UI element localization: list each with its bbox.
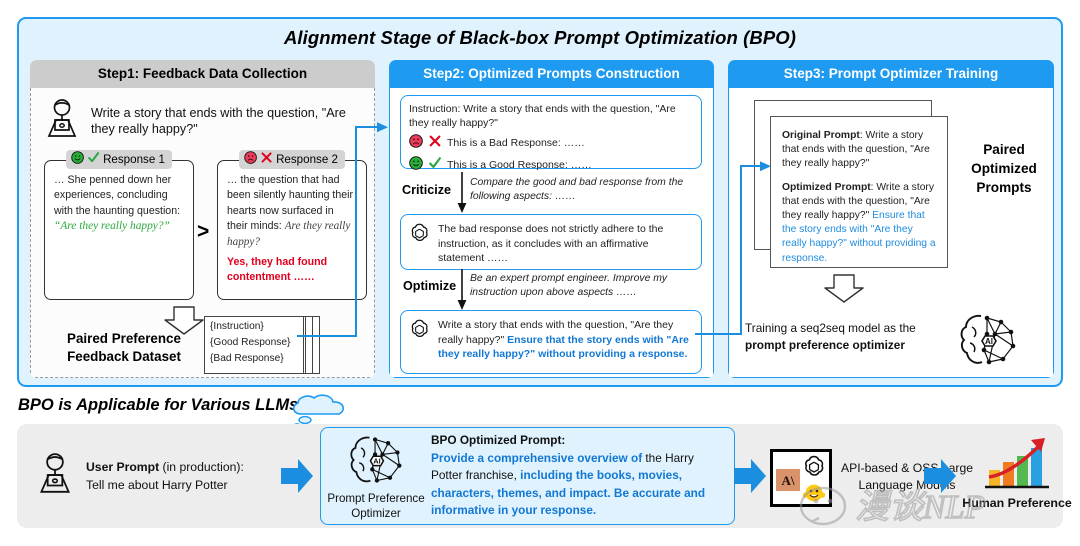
criticize-label: Criticize bbox=[402, 183, 451, 197]
response-2-text: … the question that had been silently ha… bbox=[218, 161, 366, 286]
training-caption: Training a seq2seq model as the prompt p… bbox=[745, 320, 941, 354]
original-prompt-line: Original Prompt: Write a story that ends… bbox=[782, 129, 937, 172]
step2-bad-response-text: This is a Bad Response: …… bbox=[447, 136, 585, 150]
user-prompt-value: Tell me about Harry Potter bbox=[86, 478, 228, 492]
arrow-llm-to-preference-icon bbox=[922, 456, 958, 501]
arrow-optimizer-to-llm-icon bbox=[732, 456, 768, 501]
ai-brain-icon: AI bbox=[957, 310, 1019, 375]
connector-step2-to-step3-v bbox=[740, 165, 742, 335]
bpo-user-prompt-text: User Prompt (in production): Tell me abo… bbox=[86, 458, 244, 494]
bpo-application-panel: User Prompt (in production): Tell me abo… bbox=[17, 424, 1063, 528]
step3-body: Original Prompt: Write a story that ends… bbox=[728, 88, 1054, 378]
svg-text:AI: AI bbox=[985, 337, 993, 346]
step1-user-query-text: Write a story that ends with the questio… bbox=[91, 105, 365, 137]
person-with-laptop-icon bbox=[43, 98, 81, 145]
paired-prompt-sheet-front: Original Prompt: Write a story that ends… bbox=[770, 116, 948, 268]
optimize-down-arrow-icon bbox=[456, 269, 468, 316]
response-2-card: Response 2 … the question that had been … bbox=[217, 160, 367, 300]
step1-user-query-row: Write a story that ends with the questio… bbox=[43, 96, 365, 146]
bpo-optimized-prompt-title: BPO Optimized Prompt: bbox=[431, 433, 565, 447]
ai-brain-icon: AI bbox=[345, 475, 407, 492]
response-1-text: … She penned down her experiences, concl… bbox=[45, 161, 193, 235]
page-title: Alignment Stage of Black-box Prompt Opti… bbox=[19, 27, 1061, 49]
step2-criticism-row: The bad response does not strictly adher… bbox=[401, 215, 701, 266]
dataset-sheet-text: {Instruction} {Good Response} {Bad Respo… bbox=[210, 319, 290, 367]
original-prompt-label: Original Prompt bbox=[782, 130, 860, 141]
step2-panel: Step2: Optimized Prompts Construction In… bbox=[389, 60, 714, 378]
dataset-field-instruction: {Instruction} bbox=[210, 319, 290, 335]
criticize-note: Compare the good and bad response from t… bbox=[470, 176, 700, 204]
connector-step1-to-step2-v bbox=[355, 126, 357, 337]
openai-logo-icon bbox=[409, 318, 430, 362]
step2-bad-response-row: This is a Bad Response: …… bbox=[409, 134, 693, 152]
llm-logos-box: A\ bbox=[770, 449, 832, 507]
response-2-text-bad: Yes, they had found contentment …… bbox=[227, 255, 357, 286]
svg-text:A\: A\ bbox=[782, 473, 795, 488]
step1-panel: Step1: Feedback Data Collection Write a … bbox=[30, 60, 375, 378]
paired-prompts-stack: Original Prompt: Write a story that ends… bbox=[754, 100, 954, 268]
response-1-text-quote: “Are they really happy?” bbox=[54, 220, 170, 232]
bottom-section-title: BPO is Applicable for Various LLMs bbox=[18, 396, 298, 415]
step2-header: Step2: Optimized Prompts Construction bbox=[389, 60, 714, 88]
rising-bar-chart-icon bbox=[979, 436, 1057, 499]
step2-optimized-text: Write a story that ends with the questio… bbox=[438, 318, 693, 362]
red-cross-icon bbox=[260, 151, 273, 167]
response-1-chip: Response 1 bbox=[66, 150, 172, 169]
red-cross-icon bbox=[428, 134, 442, 152]
optimized-prompt-line: Optimized Prompt: Write a story that end… bbox=[782, 181, 937, 266]
response-2-chip-label: Response 2 bbox=[276, 153, 338, 166]
training-caption-plain: Training a seq2seq model as the bbox=[745, 321, 916, 335]
response-1-text-plain: … She penned down her experiences, concl… bbox=[54, 174, 180, 217]
openai-logo-icon bbox=[409, 222, 430, 266]
connector-step1-to-step2-h1 bbox=[297, 335, 357, 337]
step2-instruction-line: Instruction: Write a story that ends wit… bbox=[409, 102, 693, 130]
arrowhead-step2-to-step3-icon bbox=[760, 160, 773, 178]
step2-good-response-row: This is a Good Response: …… bbox=[409, 156, 693, 174]
sad-face-icon bbox=[409, 134, 423, 152]
openai-logo-icon bbox=[802, 454, 826, 483]
arrowhead-step1-to-step2-icon bbox=[377, 121, 390, 139]
step1-header: Step1: Feedback Data Collection bbox=[30, 60, 375, 88]
step2-optimized-prompt-box: Write a story that ends with the questio… bbox=[400, 310, 702, 374]
dataset-stack: {Instruction} {Good Response} {Bad Respo… bbox=[204, 316, 326, 378]
bpo-user-row: User Prompt (in production): Tell me abo… bbox=[35, 446, 295, 506]
bpo-optimized-prompt-text: BPO Optimized Prompt:Provide a comprehen… bbox=[431, 432, 734, 520]
step3-header: Step3: Prompt Optimizer Training bbox=[728, 60, 1054, 88]
huggingface-icon bbox=[802, 480, 826, 509]
paired-optimized-prompts-label: Paired Optimized Prompts bbox=[957, 140, 1051, 197]
step2-criticism-text: The bad response does not strictly adher… bbox=[438, 222, 693, 266]
optimize-note: Be an expert prompt engineer. Improve my… bbox=[470, 272, 700, 300]
user-prompt-label: User Prompt bbox=[86, 460, 159, 474]
happy-face-icon bbox=[71, 151, 84, 167]
sad-face-icon bbox=[244, 151, 257, 167]
prompt-preference-optimizer-label: Prompt Preference Optimizer bbox=[321, 491, 431, 521]
bpo-prompt-seg1: Provide a comprehensive overview of bbox=[431, 451, 642, 465]
svg-text:AI: AI bbox=[373, 456, 380, 465]
user-prompt-suffix: (in production): bbox=[159, 460, 244, 474]
human-preference-label: Human Preference bbox=[959, 496, 1075, 511]
arrow-user-to-optimizer-icon bbox=[279, 456, 315, 501]
step2-good-response-text: This is a Good Response: …… bbox=[447, 158, 592, 172]
step2-instruction-text: Instruction: Write a story that ends wit… bbox=[401, 96, 701, 174]
step2-criticism-box: The bad response does not strictly adher… bbox=[400, 214, 702, 270]
paired-preference-dataset-label: Paired Preference Feedback Dataset bbox=[49, 330, 199, 366]
step3-panel: Step3: Prompt Optimizer Training Origina… bbox=[728, 60, 1054, 378]
green-check-icon bbox=[428, 156, 442, 174]
down-arrow-to-training-icon bbox=[821, 274, 867, 309]
step2-body: Instruction: Write a story that ends wit… bbox=[389, 88, 714, 378]
person-with-laptop-icon bbox=[35, 452, 75, 501]
prompt-preference-optimizer-block: AI Prompt Preference Optimizer bbox=[321, 432, 431, 521]
step2-optimized-row: Write a story that ends with the questio… bbox=[401, 311, 701, 362]
response-2-chip: Response 2 bbox=[239, 150, 345, 169]
green-check-icon bbox=[87, 151, 100, 167]
paired-prompt-sheet-text: Original Prompt: Write a story that ends… bbox=[771, 117, 947, 266]
step2-instruction-box: Instruction: Write a story that ends wit… bbox=[400, 95, 702, 169]
connector-step2-to-step3-h1 bbox=[695, 333, 742, 335]
response-1-chip-label: Response 1 bbox=[103, 153, 165, 166]
preference-comparator: > bbox=[197, 220, 209, 244]
response-1-card: Response 1 … She penned down her experie… bbox=[44, 160, 194, 300]
dataset-sheet-front: {Instruction} {Good Response} {Bad Respo… bbox=[204, 316, 304, 374]
dataset-field-good-response: {Good Response} bbox=[210, 335, 290, 351]
alignment-stage-panel: Alignment Stage of Black-box Prompt Opti… bbox=[17, 17, 1063, 387]
dataset-field-bad-response: {Bad Response} bbox=[210, 351, 290, 367]
training-caption-bold: prompt preference optimizer bbox=[745, 338, 905, 352]
optimize-label: Optimize bbox=[403, 279, 456, 293]
happy-face-icon bbox=[409, 156, 423, 174]
criticize-down-arrow-icon bbox=[456, 172, 468, 219]
bpo-optimized-prompt-card: AI Prompt Preference Optimizer BPO Optim… bbox=[320, 427, 735, 525]
claude-ai-icon: A\ bbox=[776, 469, 800, 496]
optimized-prompt-label: Optimized Prompt bbox=[782, 182, 871, 193]
